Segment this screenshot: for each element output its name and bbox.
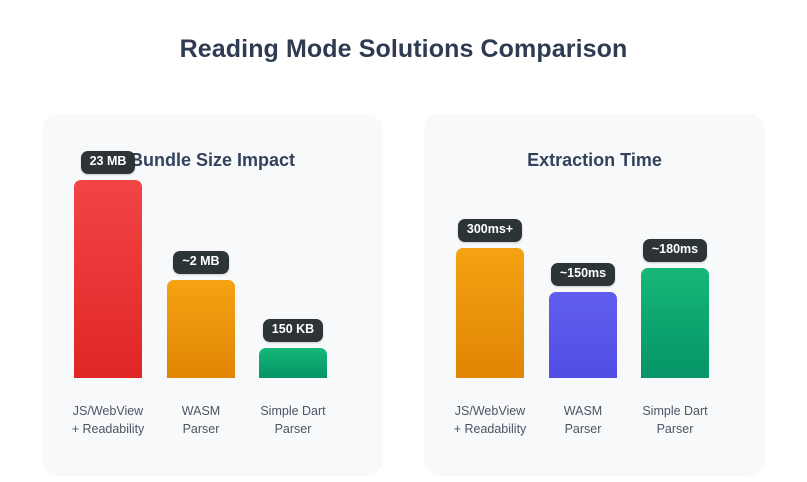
category-label-line2: + Readability — [72, 422, 145, 436]
chart-card-bundle-size: Bundle Size Impact 23 MB ~2 MB 150 KB JS… — [42, 114, 383, 476]
bar-group[interactable]: 150 KB — [247, 319, 339, 378]
category-label-line2: Parser — [183, 422, 220, 436]
bar-group[interactable]: ~150ms — [537, 263, 629, 378]
bar-value-badge: 150 KB — [263, 319, 323, 342]
bar-value-badge: 23 MB — [81, 151, 136, 174]
bar[interactable] — [167, 280, 235, 378]
bar[interactable] — [259, 348, 327, 378]
category-label-line2: Parser — [275, 422, 312, 436]
category-label-line1: WASM — [564, 404, 602, 418]
category-label-line2: + Readability — [454, 422, 527, 436]
bar-value-badge: ~150ms — [551, 263, 615, 286]
bar-group[interactable]: 23 MB — [62, 151, 154, 378]
bar-group[interactable]: 300ms+ — [444, 219, 536, 378]
category-label-line1: WASM — [182, 404, 220, 418]
category-label-line2: Parser — [657, 422, 694, 436]
category-label: Simple Dart Parser — [620, 402, 730, 438]
category-label-line1: Simple Dart — [642, 404, 707, 418]
bar-value-badge: ~180ms — [643, 239, 707, 262]
page-title: Reading Mode Solutions Comparison — [0, 35, 807, 64]
bar[interactable] — [549, 292, 617, 378]
bar[interactable] — [74, 180, 142, 378]
plot-area-bundle-size: 23 MB ~2 MB 150 KB JS/WebView + Readabil… — [42, 114, 383, 476]
category-label: Simple Dart Parser — [238, 402, 348, 438]
bar[interactable] — [456, 248, 524, 378]
category-label-line1: Simple Dart — [260, 404, 325, 418]
category-label-line1: JS/WebView — [455, 404, 525, 418]
plot-area-extraction-time: 300ms+ ~150ms ~180ms JS/WebView + Readab… — [424, 114, 765, 476]
bar-group[interactable]: ~2 MB — [155, 251, 247, 378]
category-label-line2: Parser — [565, 422, 602, 436]
charts-container: Bundle Size Impact 23 MB ~2 MB 150 KB JS… — [42, 114, 765, 476]
bar-group[interactable]: ~180ms — [629, 239, 721, 378]
bar-value-badge: 300ms+ — [458, 219, 522, 242]
bar-value-badge: ~2 MB — [173, 251, 228, 274]
bar[interactable] — [641, 268, 709, 378]
chart-card-extraction-time: Extraction Time 300ms+ ~150ms ~180ms JS/… — [424, 114, 765, 476]
category-label-line1: JS/WebView — [73, 404, 143, 418]
